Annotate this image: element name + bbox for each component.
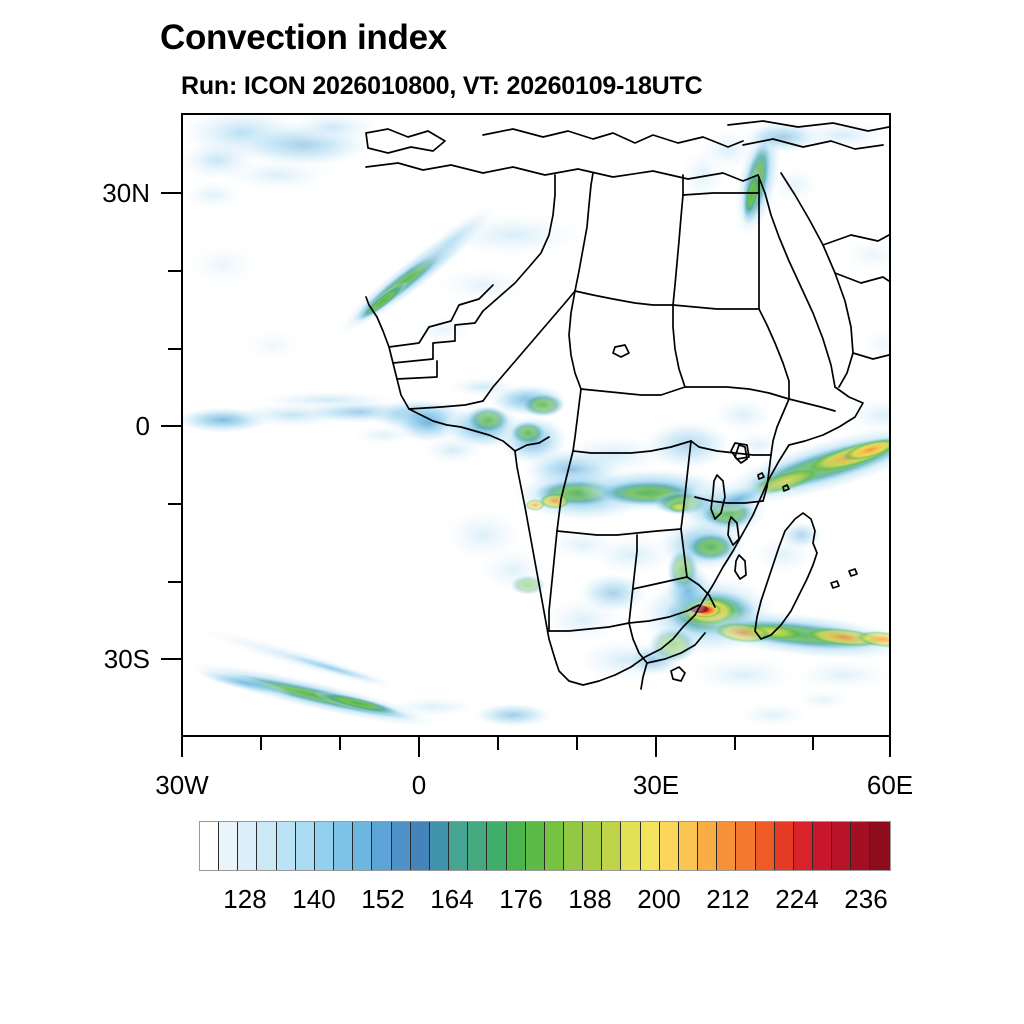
- page-title: Convection index: [160, 18, 447, 58]
- colorbar-cell: [200, 822, 219, 870]
- colorbar-cell: [257, 822, 276, 870]
- y-tick-30s: [161, 658, 181, 660]
- colorbar-cell: [526, 822, 545, 870]
- colorbar-cell: [296, 822, 315, 870]
- colorbar-cell: [660, 822, 679, 870]
- x-tick-40e: [734, 737, 736, 750]
- colorbar-cell: [756, 822, 775, 870]
- colorbar-cell: [775, 822, 794, 870]
- colorbar-cell: [832, 822, 851, 870]
- x-axis-label-60e: 60E: [810, 770, 970, 801]
- feature-nw-atlantic: [183, 115, 378, 209]
- colorbar-cell: [545, 822, 564, 870]
- y-axis-label-30s: 30S: [30, 644, 150, 675]
- colorbar-cell: [468, 822, 487, 870]
- colorbar-cell: [813, 822, 832, 870]
- x-tick-20w: [260, 737, 262, 750]
- run-valid-time-subtitle: Run: ICON 2026010800, VT: 20260109-18UTC: [181, 72, 702, 101]
- colorbar-cell: [736, 822, 755, 870]
- y-tick-20n: [168, 270, 181, 272]
- y-tick-10n: [168, 348, 181, 350]
- colorbar-cell: [411, 822, 430, 870]
- x-axis-label-30w: 30W: [102, 770, 262, 801]
- colorbar-cell: [353, 822, 372, 870]
- colorbar-cell: [698, 822, 717, 870]
- colorbar-cell: [392, 822, 411, 870]
- y-tick-20s: [168, 581, 181, 583]
- x-tick-0: [418, 737, 420, 757]
- colorbar-cell: [602, 822, 621, 870]
- colorbar-cell: [679, 822, 698, 870]
- colorbar-cell: [851, 822, 870, 870]
- x-tick-50e: [812, 737, 814, 750]
- x-tick-20e: [576, 737, 578, 750]
- y-tick-10s: [168, 503, 181, 505]
- colorbar-cell: [794, 822, 813, 870]
- x-tick-30w: [181, 737, 183, 757]
- convection-index-figure: Convection index Run: ICON 2026010800, V…: [0, 0, 1024, 1024]
- colorbar-cell: [430, 822, 449, 870]
- colorbar-cell: [277, 822, 296, 870]
- feature-algeria-haze: [443, 213, 583, 257]
- colorbar-cell: [621, 822, 640, 870]
- colorbar-cell: [870, 822, 889, 870]
- convection-field-layer: [183, 115, 889, 735]
- colorbar-cell: [564, 822, 583, 870]
- x-tick-10e: [497, 737, 499, 750]
- colorbar-cell: [334, 822, 353, 870]
- map-canvas: [183, 115, 889, 735]
- colorbar-cell: [507, 822, 526, 870]
- y-tick-0: [161, 425, 181, 427]
- y-axis-label-30n: 30N: [30, 178, 150, 209]
- colorbar: [199, 821, 891, 871]
- colorbar-cell: [315, 822, 334, 870]
- y-tick-30n: [161, 192, 181, 194]
- colorbar-cell: [372, 822, 391, 870]
- colorbar-cell: [238, 822, 257, 870]
- x-tick-30e: [655, 737, 657, 757]
- colorbar-cell: [717, 822, 736, 870]
- colorbar-cell: [219, 822, 238, 870]
- y-axis-label-0: 0: [30, 411, 150, 442]
- colorbar-cell: [487, 822, 506, 870]
- colorbar-cell: [641, 822, 660, 870]
- feature-atlantic-itcz-band: [183, 391, 525, 464]
- colorbar-tick-label: 236: [821, 884, 911, 915]
- colorbar-cell: [449, 822, 468, 870]
- x-axis-label-30e: 30E: [576, 770, 736, 801]
- x-tick-60e: [889, 737, 891, 757]
- x-axis-label-0: 0: [339, 770, 499, 801]
- map-plot-area: [181, 113, 891, 737]
- colorbar-cell: [583, 822, 602, 870]
- x-tick-10w: [339, 737, 341, 750]
